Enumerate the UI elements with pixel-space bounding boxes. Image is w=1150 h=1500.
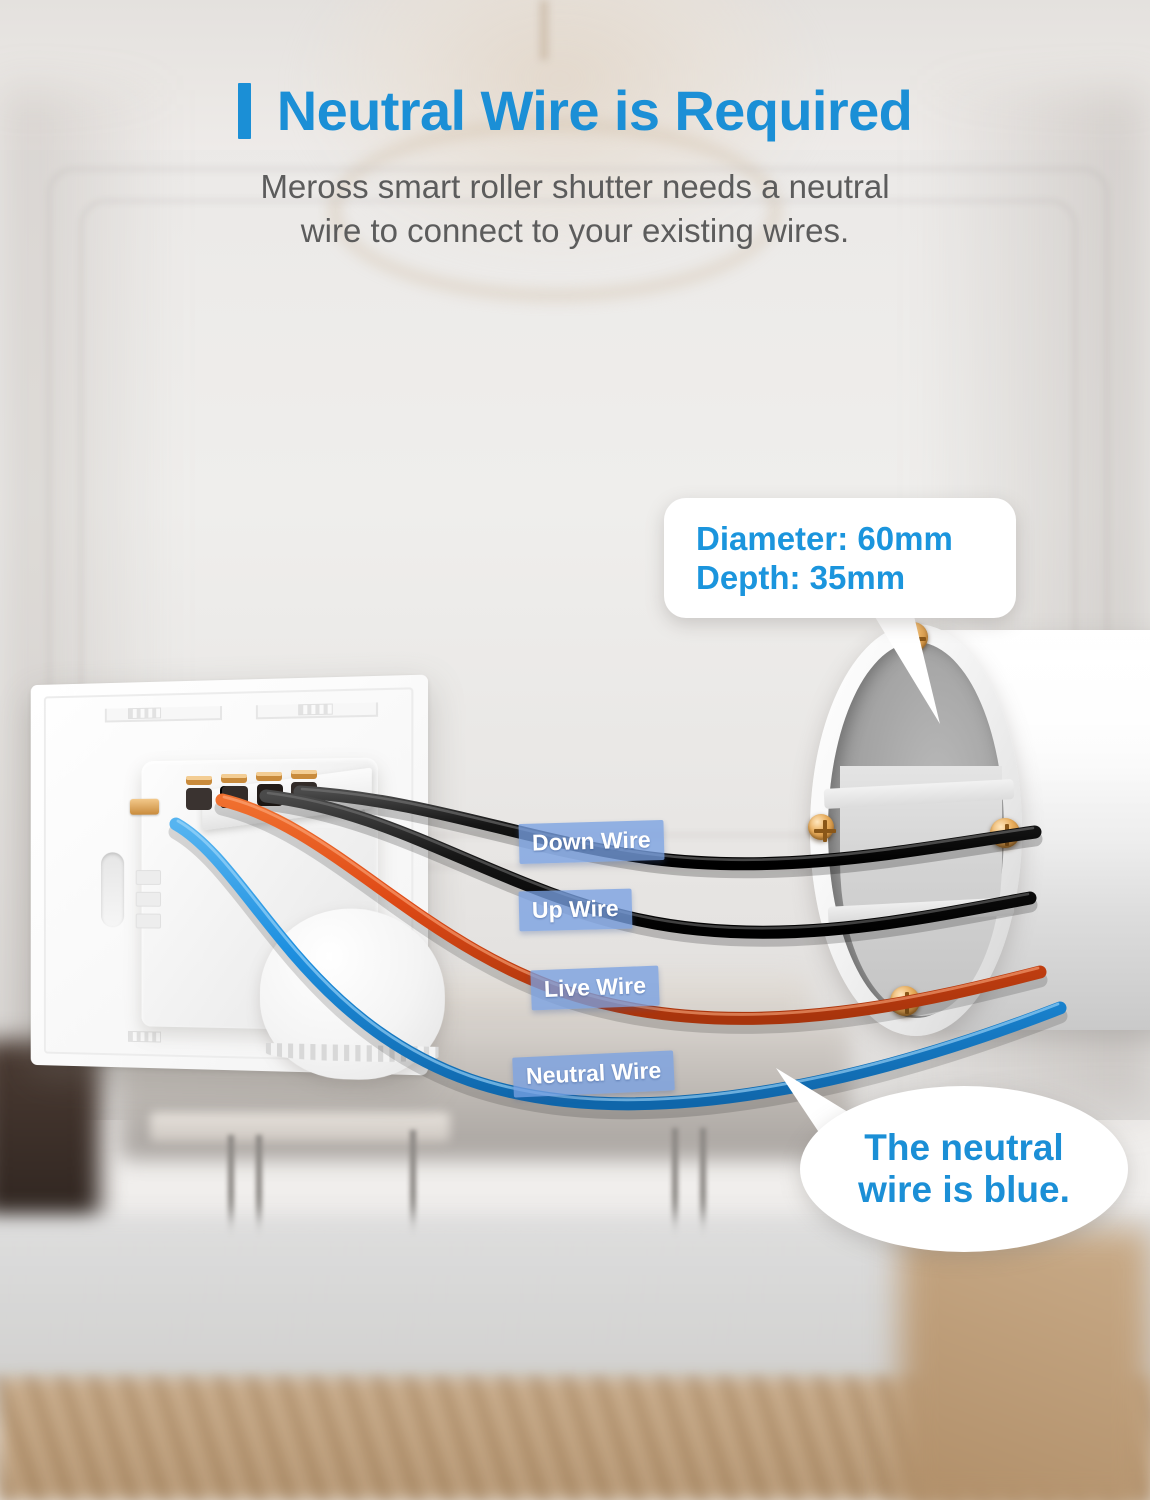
wire-label-up: Up Wire bbox=[519, 889, 633, 932]
wall-back-box bbox=[800, 616, 1150, 1052]
wire-label-neutral: Neutral Wire bbox=[512, 1050, 675, 1097]
coffee-table-top bbox=[150, 1112, 450, 1142]
wire-label-live: Live Wire bbox=[530, 966, 660, 1011]
smart-switch-module bbox=[24, 680, 424, 1070]
screw-icon bbox=[890, 986, 920, 1016]
switch-faceplate bbox=[31, 675, 428, 1076]
header: Neutral Wire is Required Meross smart ro… bbox=[0, 0, 1150, 253]
faceplate-clip bbox=[298, 703, 333, 715]
neutral-note-line-1: The neutral bbox=[864, 1127, 1063, 1169]
wire-label-down: Down Wire bbox=[518, 820, 664, 864]
brass-contact-tab bbox=[130, 799, 159, 815]
mounting-slot-left bbox=[101, 852, 124, 927]
faceplate-inner-frame bbox=[44, 687, 413, 1062]
title-text: Neutral Wire is Required bbox=[277, 78, 912, 143]
dimensions-line-1: Diameter: 60mm bbox=[696, 520, 1016, 559]
title-accent-bar bbox=[238, 83, 251, 139]
faceplate-clip bbox=[128, 707, 161, 719]
dimensions-callout: Diameter: 60mm Depth: 35mm bbox=[664, 498, 1016, 618]
faceplate-notch bbox=[105, 706, 222, 722]
dimensions-line-2: Depth: 35mm bbox=[696, 559, 1016, 598]
infographic-canvas: Neutral Wire is Required Meross smart ro… bbox=[0, 0, 1150, 1500]
wood-floor-right bbox=[900, 1230, 1150, 1500]
subtitle: Meross smart roller shutter needs a neut… bbox=[0, 165, 1150, 253]
screw-icon bbox=[808, 814, 834, 840]
page-title: Neutral Wire is Required bbox=[0, 0, 1150, 143]
subtitle-line-2: wire to connect to your existing wires. bbox=[0, 209, 1150, 253]
neutral-note-line-2: wire is blue. bbox=[858, 1169, 1070, 1211]
dimensions-callout-tail bbox=[862, 612, 958, 728]
subtitle-line-1: Meross smart roller shutter needs a neut… bbox=[0, 165, 1150, 209]
faceplate-clip bbox=[128, 1031, 161, 1043]
screw-icon bbox=[990, 818, 1020, 848]
switch-side-ribs bbox=[136, 870, 161, 949]
neutral-note-callout: The neutral wire is blue. bbox=[800, 1086, 1128, 1252]
